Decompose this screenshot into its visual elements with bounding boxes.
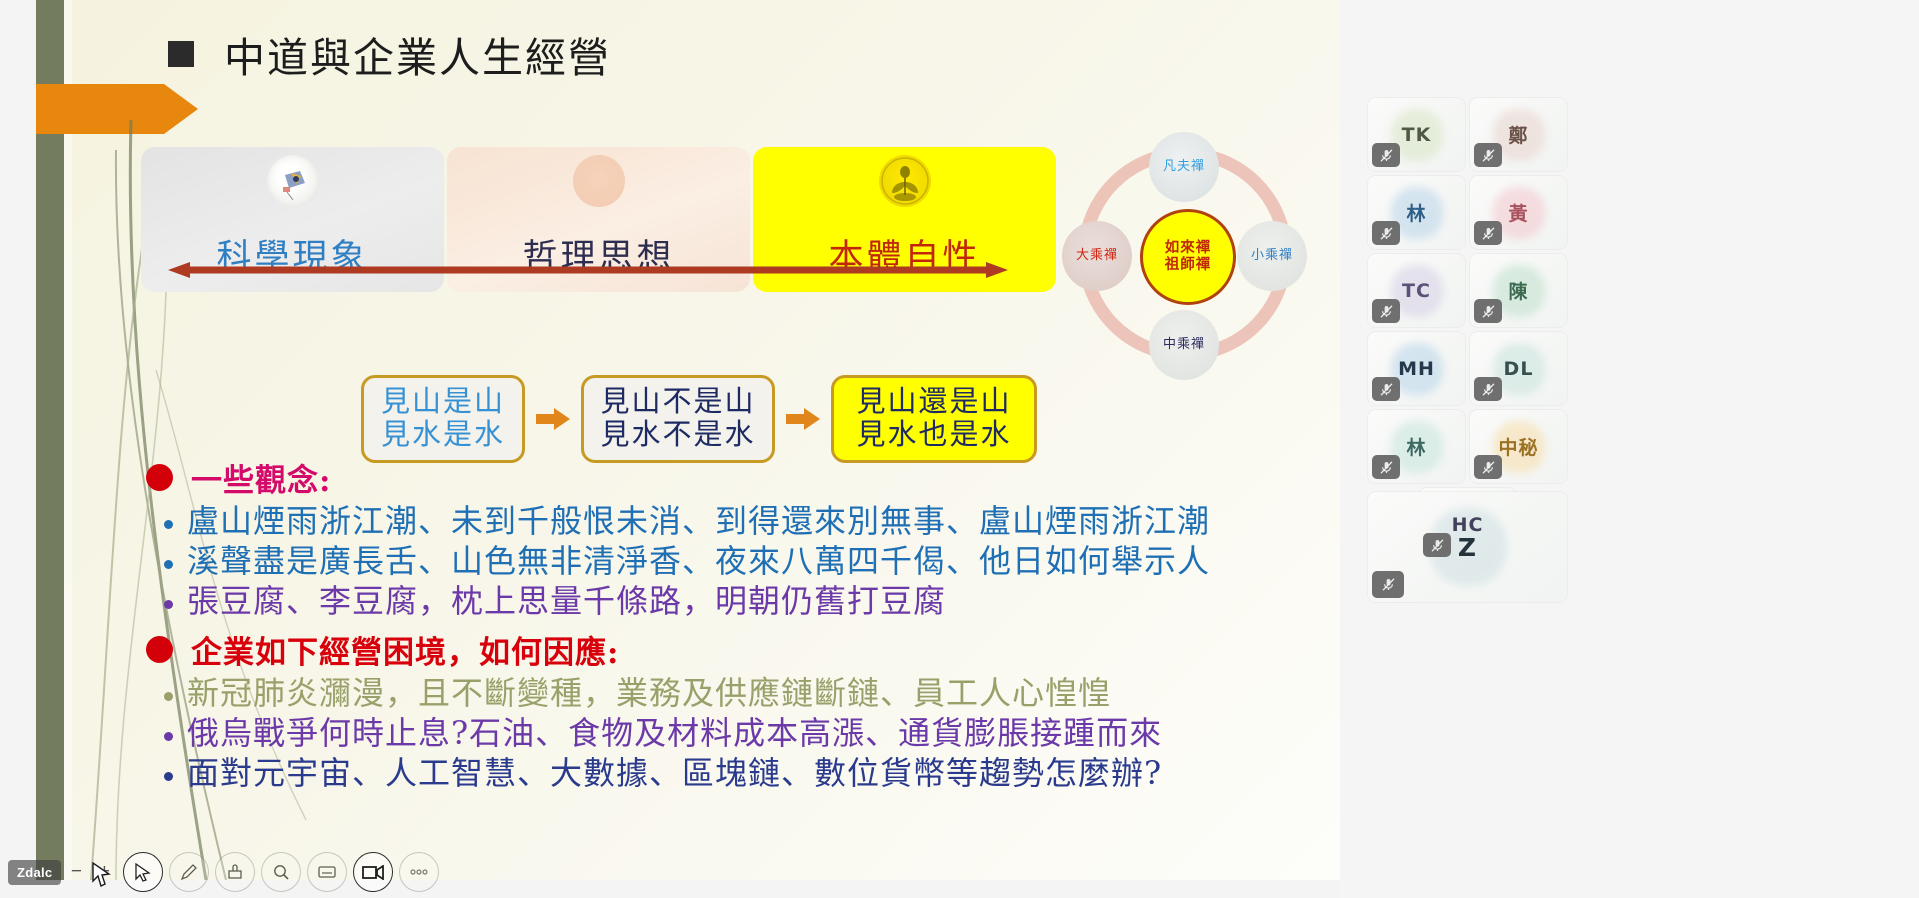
slide-icon[interactable] (307, 852, 347, 892)
mic-muted-badge[interactable] (1423, 533, 1451, 557)
mouse-cursor (92, 862, 112, 888)
red-bullet-icon (146, 464, 173, 491)
mw-line1: 見山是山 (381, 385, 505, 418)
participant-initials: TC (1402, 280, 1431, 302)
red-bullet-icon (146, 636, 173, 663)
participant-tile[interactable]: 林 (1368, 410, 1465, 483)
concepts-heading-text: 一些觀念: (191, 455, 331, 500)
business-line: 俄烏戰爭何時止息?石油、食物及材料成本高漲、通貨膨脹接踵而來 (146, 714, 1336, 753)
mic-muted-icon (1481, 460, 1496, 475)
participant-tile[interactable]: 陳 (1470, 254, 1567, 327)
mountain-water-row: 見山是山 見水是水 見山不是山 見水不是水 見山還是山 見水也是水 (361, 375, 1037, 463)
mw-line1: 見山不是山 (600, 385, 755, 418)
participant-tile[interactable]: MH (1368, 332, 1465, 405)
philosophy-emblem-icon (573, 155, 625, 207)
participant-initials: 林 (1406, 433, 1426, 460)
mic-muted-badge[interactable] (1474, 299, 1502, 323)
title-bullet-square (168, 41, 194, 67)
annotation-toolbar: Zdalc − + (8, 852, 439, 892)
mic-muted-badge[interactable] (1474, 143, 1502, 167)
bullet-icon (164, 560, 173, 569)
concepts-heading: 一些觀念: (146, 455, 1336, 500)
mic-muted-icon (1481, 226, 1496, 241)
arrow-right-icon (786, 406, 820, 432)
business-heading: 企業如下經營困境，如何因應: (146, 627, 1336, 672)
mic-muted-icon (1430, 538, 1445, 553)
participant-initials: TK (1402, 124, 1432, 146)
business-line: 面對元宇宙、人工智慧、大數據、區塊鏈、數位貨幣等趨勢怎麼辦? (146, 754, 1336, 793)
participant-initials: Z (1458, 533, 1477, 562)
zen-node-bottom: 中乘禪 (1149, 310, 1219, 380)
mic-muted-icon (1379, 226, 1394, 241)
mw-line2: 見水不是水 (600, 418, 755, 451)
business-line-text: 俄烏戰爭何時止息?石油、食物及材料成本高漲、通貨膨脹接踵而來 (187, 714, 1162, 753)
slide-title-row: 中道與企業人生經營 (168, 24, 611, 84)
mic-muted-icon (1379, 304, 1394, 319)
zen-node-left: 大乘禪 (1062, 221, 1132, 291)
business-line-text: 面對元宇宙、人工智慧、大數據、區塊鏈、數位貨幣等趨勢怎麼辦? (187, 754, 1162, 793)
mic-muted-badge[interactable] (1372, 377, 1400, 401)
mw-line1: 見山還是山 (856, 385, 1011, 418)
concept-line: 溪聲盡是廣長舌、山色無非清淨香、夜來八萬四千偈、他日如何舉示人 (146, 542, 1336, 581)
mic-muted-badge[interactable] (1474, 221, 1502, 245)
concept-line: 盧山煙雨浙江潮、未到千般恨未消、到得還來別無事、盧山煙雨浙江潮 (146, 502, 1336, 541)
mic-muted-badge[interactable] (1372, 299, 1400, 323)
zen-node-top: 凡夫禪 (1149, 132, 1219, 202)
participant-initials: 陳 (1508, 277, 1528, 304)
buddha-emblem-icon (879, 155, 931, 207)
magnifier-icon[interactable] (261, 852, 301, 892)
mountain-water-box-2: 見山不是山 見水不是水 (581, 375, 775, 463)
zen-center-line2: 祖師禪 (1165, 257, 1212, 274)
mic-muted-badge[interactable] (1372, 221, 1400, 245)
mic-muted-icon (1379, 382, 1394, 397)
concept-line-text: 溪聲盡是廣長舌、山色無非清淨香、夜來八萬四千偈、他日如何舉示人 (187, 542, 1210, 581)
featured-participant-grid: Z (1368, 492, 1568, 602)
mountain-water-box-3: 見山還是山 見水也是水 (831, 375, 1037, 463)
camera-icon[interactable] (353, 852, 393, 892)
participant-tile[interactable]: Z (1368, 492, 1567, 602)
participant-initials: MH (1398, 358, 1435, 380)
bullet-icon (164, 520, 173, 529)
bullet-icon (164, 732, 173, 741)
participant-tile[interactable]: DL (1470, 332, 1567, 405)
business-line-text: 新冠肺炎瀰漫，且不斷變種，業務及供應鏈斷鏈、員工人心惶惶 (187, 674, 1111, 713)
zen-circle-diagram: 凡夫禪 大乘禪 小乘禪 中乘禪 如來禪 祖師禪 (1056, 125, 1318, 383)
concept-line-text: 盧山煙雨浙江潮、未到千般恨未消、到得還來別無事、盧山煙雨浙江潮 (187, 502, 1210, 541)
mic-muted-icon (1379, 460, 1394, 475)
business-line: 新冠肺炎瀰漫，且不斷變種，業務及供應鏈斷鏈、員工人心惶惶 (146, 674, 1336, 713)
bullet-icon (164, 692, 173, 701)
pen-icon[interactable] (169, 852, 209, 892)
mic-muted-icon (1381, 577, 1396, 592)
participant-tile[interactable]: TK (1368, 98, 1465, 171)
bullet-icon (164, 772, 173, 781)
pointer-icon[interactable] (123, 852, 163, 892)
app-root: 中道與企業人生經營 科學現象 (0, 0, 1919, 898)
mic-muted-badge[interactable] (1474, 455, 1502, 479)
mic-muted-badge[interactable] (1474, 377, 1502, 401)
participant-tile[interactable]: 林 (1368, 176, 1465, 249)
participant-initials: 黃 (1508, 199, 1528, 226)
participants-rail: TK鄭林黃TC陳MHDL林中秘HC Z (1340, 0, 1919, 898)
participant-tile[interactable]: TC (1368, 254, 1465, 327)
mic-muted-badge[interactable] (1372, 455, 1400, 479)
participant-initials: 林 (1406, 199, 1426, 226)
zoom-out-button[interactable]: − (63, 859, 89, 885)
double-headed-arrow (168, 262, 1008, 278)
stamp-icon[interactable] (215, 852, 255, 892)
business-heading-text: 企業如下經營困境，如何因應: (191, 627, 619, 672)
more-icon[interactable] (399, 852, 439, 892)
bullet-icon (164, 600, 173, 609)
zdalc-label: Zdalc (8, 860, 61, 885)
participant-initials: 鄭 (1508, 121, 1528, 148)
participant-tile[interactable]: 中秘 (1470, 410, 1567, 483)
mic-muted-icon (1379, 148, 1394, 163)
mic-muted-icon (1481, 304, 1496, 319)
concept-line: 張豆腐、李豆腐，枕上思量千條路，明朝仍舊打豆腐 (146, 582, 1336, 621)
zen-node-center: 如來禪 祖師禪 (1140, 209, 1236, 305)
shared-slide: 中道與企業人生經營 科學現象 (36, 0, 1340, 880)
page-title: 中道與企業人生經營 (224, 24, 611, 84)
mw-line2: 見水是水 (381, 418, 505, 451)
concept-line-text: 張豆腐、李豆腐，枕上思量千條路，明朝仍舊打豆腐 (187, 582, 946, 621)
slide-body: 一些觀念: 盧山煙雨浙江潮、未到千般恨未消、到得還來別無事、盧山煙雨浙江潮 溪聲… (146, 455, 1336, 794)
mic-muted-badge[interactable] (1372, 143, 1400, 167)
mountain-water-box-1: 見山是山 見水是水 (361, 375, 525, 463)
participant-tile[interactable]: 鄭 (1470, 98, 1567, 171)
mic-muted-icon (1481, 148, 1496, 163)
participant-initials: DL (1504, 358, 1534, 380)
participant-initials: 中秘 (1498, 433, 1538, 460)
zen-center-line1: 如來禪 (1165, 240, 1212, 257)
zen-node-right: 小乘禪 (1237, 221, 1307, 291)
participant-tile[interactable]: 黃 (1470, 176, 1567, 249)
science-emblem-icon (267, 155, 319, 207)
arrow-right-icon (536, 406, 570, 432)
mic-muted-badge[interactable] (1372, 571, 1404, 598)
mw-line2: 見水也是水 (856, 418, 1011, 451)
mic-muted-icon (1481, 382, 1496, 397)
